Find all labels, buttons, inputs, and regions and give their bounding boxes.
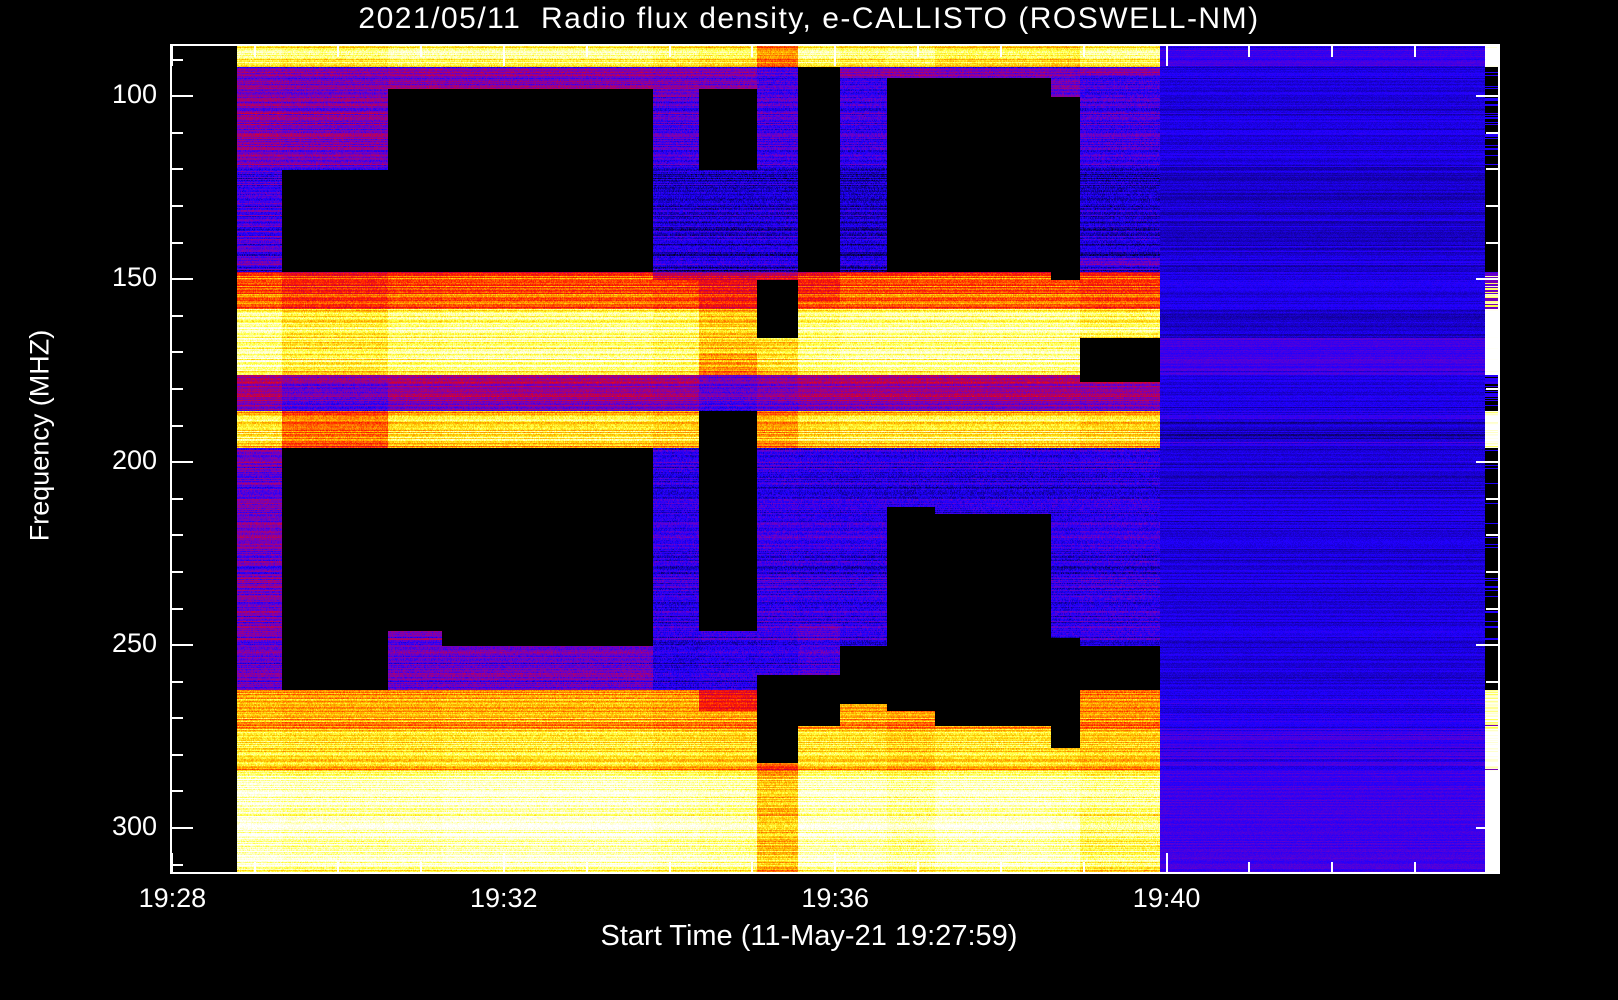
y-tick-right-140 [1486, 242, 1498, 244]
x-tick-label-19-36: 19:36 [755, 883, 915, 914]
y-tick-240 [171, 608, 183, 610]
x-tick-34 [669, 862, 671, 874]
y-tick-right-110 [1486, 132, 1498, 134]
y-tick-290 [171, 790, 183, 792]
x-tick-top-41 [1248, 45, 1250, 57]
y-tick-right-260 [1486, 681, 1498, 683]
y-tick-right-290 [1486, 790, 1498, 792]
y-tick-250 [171, 644, 193, 646]
x-tick-top-28 [171, 45, 173, 66]
y-tick-right-230 [1486, 571, 1498, 573]
x-tick-41 [1248, 862, 1250, 874]
y-tick-180 [171, 388, 183, 390]
y-tick-160 [171, 315, 183, 317]
x-axis-title: Start Time (11-May-21 19:27:59) [0, 920, 1618, 953]
y-tick-label-250: 250 [112, 628, 157, 659]
y-tick-right-180 [1486, 388, 1498, 390]
y-tick-right-210 [1486, 498, 1498, 500]
y-tick-200 [171, 461, 193, 463]
y-tick-280 [171, 754, 183, 756]
spectrogram-canvas [171, 45, 1498, 872]
x-tick-30 [337, 862, 339, 874]
y-tick-label-150: 150 [112, 262, 157, 293]
x-tick-31 [420, 862, 422, 874]
x-tick-top-40 [1166, 45, 1168, 66]
y-tick-170 [171, 351, 183, 353]
x-tick-label-19-40: 19:40 [1087, 883, 1247, 914]
y-tick-130 [171, 205, 183, 207]
y-tick-300 [171, 827, 193, 829]
x-tick-36 [834, 853, 836, 874]
y-tick-right-130 [1486, 205, 1498, 207]
y-tick-right-160 [1486, 315, 1498, 317]
y-tick-270 [171, 717, 183, 719]
y-tick-260 [171, 681, 183, 683]
x-tick-43 [1414, 862, 1416, 874]
x-tick-top-34 [669, 45, 671, 57]
x-tick-39 [1083, 862, 1085, 874]
y-tick-right-170 [1486, 351, 1498, 353]
y-tick-right-240 [1486, 608, 1498, 610]
x-tick-top-29 [254, 45, 256, 57]
x-tick-top-44 [1497, 45, 1499, 66]
figure-title: 2021/05/11 Radio flux density, e-CALLIST… [0, 2, 1618, 36]
x-tick-32 [503, 853, 505, 874]
x-tick-top-39 [1083, 45, 1085, 57]
y-tick-150 [171, 278, 193, 280]
x-tick-37 [917, 862, 919, 874]
x-tick-top-32 [503, 45, 505, 66]
y-tick-right-150 [1476, 278, 1498, 280]
y-tick-230 [171, 571, 183, 573]
y-tick-right-300 [1476, 827, 1498, 829]
y-axis-title: Frequency (MHZ) [25, 286, 56, 586]
y-tick-190 [171, 425, 183, 427]
y-tick-220 [171, 534, 183, 536]
x-tick-top-33 [586, 45, 588, 57]
x-tick-35 [751, 862, 753, 874]
y-tick-right-120 [1486, 168, 1498, 170]
x-tick-42 [1331, 862, 1333, 874]
plot-area [171, 45, 1498, 872]
y-tick-110 [171, 132, 183, 134]
x-tick-top-35 [751, 45, 753, 57]
y-tick-100 [171, 95, 193, 97]
x-tick-40 [1166, 853, 1168, 874]
x-tick-top-42 [1331, 45, 1333, 57]
x-tick-label-19-32: 19:32 [424, 883, 584, 914]
x-tick-44 [1497, 853, 1499, 874]
x-tick-top-38 [1000, 45, 1002, 57]
y-tick-label-300: 300 [112, 811, 157, 842]
x-tick-top-36 [834, 45, 836, 66]
x-tick-33 [586, 862, 588, 874]
x-tick-29 [254, 862, 256, 874]
y-tick-210 [171, 498, 183, 500]
x-tick-top-31 [420, 45, 422, 57]
x-tick-top-37 [917, 45, 919, 57]
y-tick-right-200 [1476, 461, 1498, 463]
y-tick-120 [171, 168, 183, 170]
x-tick-top-43 [1414, 45, 1416, 57]
y-tick-140 [171, 242, 183, 244]
x-tick-38 [1000, 862, 1002, 874]
y-tick-right-100 [1476, 95, 1498, 97]
y-tick-right-270 [1486, 717, 1498, 719]
y-tick-label-100: 100 [112, 79, 157, 110]
y-tick-right-220 [1486, 534, 1498, 536]
y-tick-right-190 [1486, 425, 1498, 427]
x-tick-28 [171, 853, 173, 874]
y-tick-right-280 [1486, 754, 1498, 756]
y-tick-right-250 [1476, 644, 1498, 646]
y-axis-right-line [1498, 45, 1500, 874]
x-tick-top-30 [337, 45, 339, 57]
spectrogram-figure: 2021/05/11 Radio flux density, e-CALLIST… [0, 0, 1618, 1000]
x-tick-label-19-28: 19:28 [92, 883, 252, 914]
y-tick-label-200: 200 [112, 445, 157, 476]
